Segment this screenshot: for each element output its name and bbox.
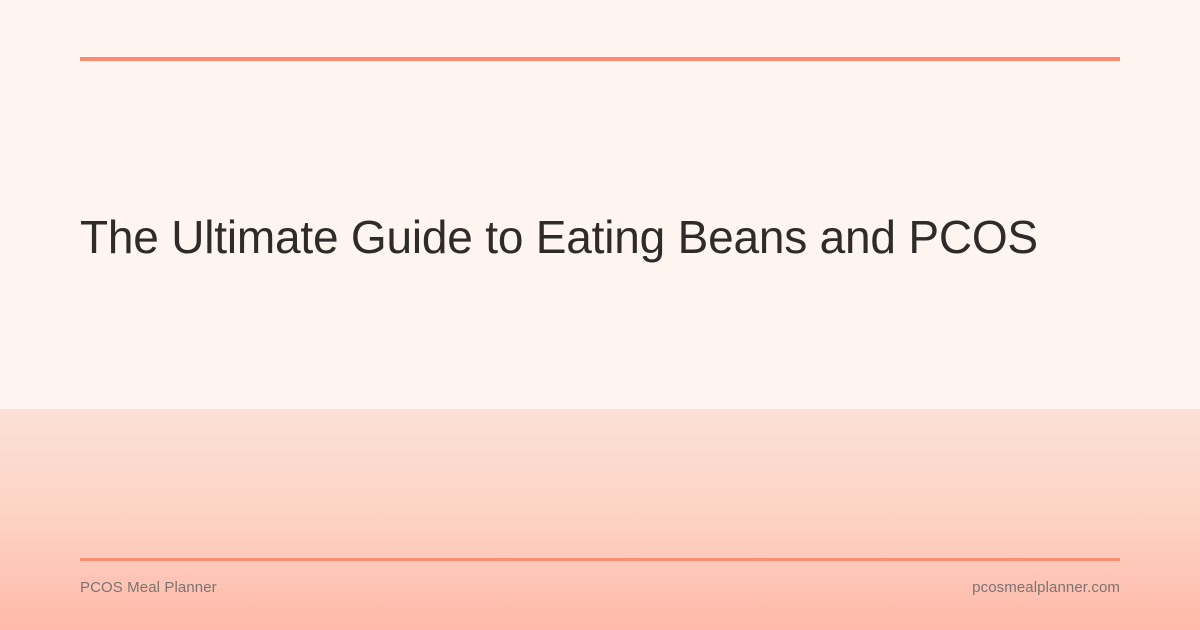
top-accent-rule bbox=[80, 57, 1120, 61]
page-title: The Ultimate Guide to Eating Beans and P… bbox=[80, 206, 1080, 269]
footer-brand-label: PCOS Meal Planner bbox=[80, 578, 217, 598]
footer-accent-rule bbox=[80, 558, 1120, 561]
social-share-card: The Ultimate Guide to Eating Beans and P… bbox=[0, 0, 1200, 630]
footer: PCOS Meal Planner pcosmealplanner.com bbox=[80, 578, 1120, 598]
footer-site-url: pcosmealplanner.com bbox=[972, 578, 1120, 598]
headline-container: The Ultimate Guide to Eating Beans and P… bbox=[80, 206, 1080, 269]
